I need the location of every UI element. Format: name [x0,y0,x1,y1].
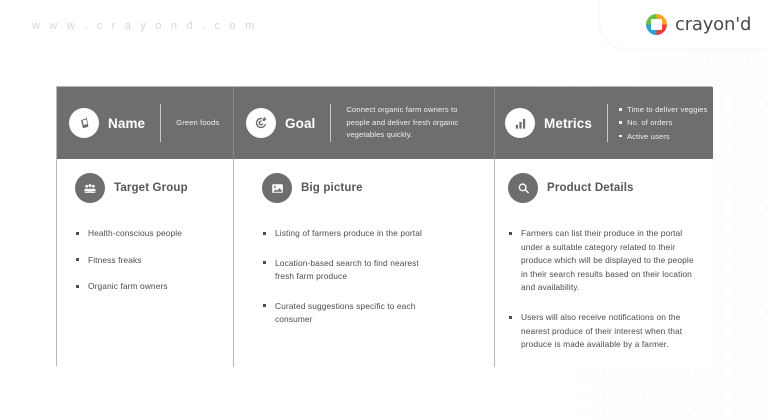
brand-logo: crayon'd [600,0,768,48]
panel-header-big-picture: Big picture [262,173,480,203]
target-arrow-icon [246,108,276,138]
brand-logo-text: crayon'd [675,14,751,35]
panel-header-product-details: Product Details [508,173,702,203]
list-item: Active users [619,130,708,143]
panel-header-target-group: Target Group [75,173,219,203]
panel-title-product-details: Product Details [547,182,634,194]
panel-title-target-group: Target Group [114,182,188,194]
list-item: Curated suggestions specific to each con… [262,300,432,327]
product-details-list: Farmers can list their produce in the po… [508,227,702,368]
panel-cell-product-details: Product Details Farmers can list their p… [495,159,713,367]
slide-canvas: w w w . c r a y o n d . c o m crayon'd N… [0,0,768,420]
big-picture-list: Listing of farmers produce in the portal… [262,227,480,343]
list-item: Fitness freaks [75,254,219,268]
divider [160,104,161,142]
list-item: Health-conscious people [75,227,219,241]
magnifier-search-icon [508,173,538,203]
crayond-pinwheel-logo-icon [646,14,667,35]
band-cell-name: Name Green foods [57,87,234,159]
list-item: Time to deliver veggies [619,103,708,116]
band-cell-goal: Goal Connect organic farm owners to peop… [234,87,495,159]
divider [330,104,331,142]
site-url-text: w w w . c r a y o n d . c o m [32,20,257,32]
panel-cell-target-group: Target Group Health-conscious people Fit… [57,159,234,367]
list-item: Farmers can list their produce in the po… [508,227,702,295]
band-metrics-list: Time to deliver veggies No. of orders Ac… [619,103,708,142]
band-label-metrics: Metrics [544,116,592,131]
divider [607,104,608,142]
target-group-list: Health-conscious people Fitness freaks O… [75,227,219,307]
panel-cell-big-picture: Big picture Listing of farmers produce i… [234,159,495,367]
list-item: Location-based search to find nearest fr… [262,257,437,284]
people-group-icon [75,173,105,203]
band-value-name: Green foods [172,117,219,130]
band-cell-metrics: Metrics Time to deliver veggies No. of o… [495,87,713,159]
note-tag-icon [69,108,99,138]
band-label-name: Name [108,116,145,131]
band-value-goal: Connect organic farm owners to people an… [342,104,470,142]
image-picture-icon [262,173,292,203]
band-label-goal: Goal [285,116,315,131]
list-item: No. of orders [619,116,708,129]
lean-canvas-board: Name Green foods Goal Connect organic fa… [56,86,712,366]
list-item: Users will also receive notifications on… [508,311,702,352]
panel-title-big-picture: Big picture [301,182,363,194]
bar-chart-icon [505,108,535,138]
list-item: Listing of farmers produce in the portal [262,227,480,241]
list-item: Organic farm owners [75,280,219,294]
